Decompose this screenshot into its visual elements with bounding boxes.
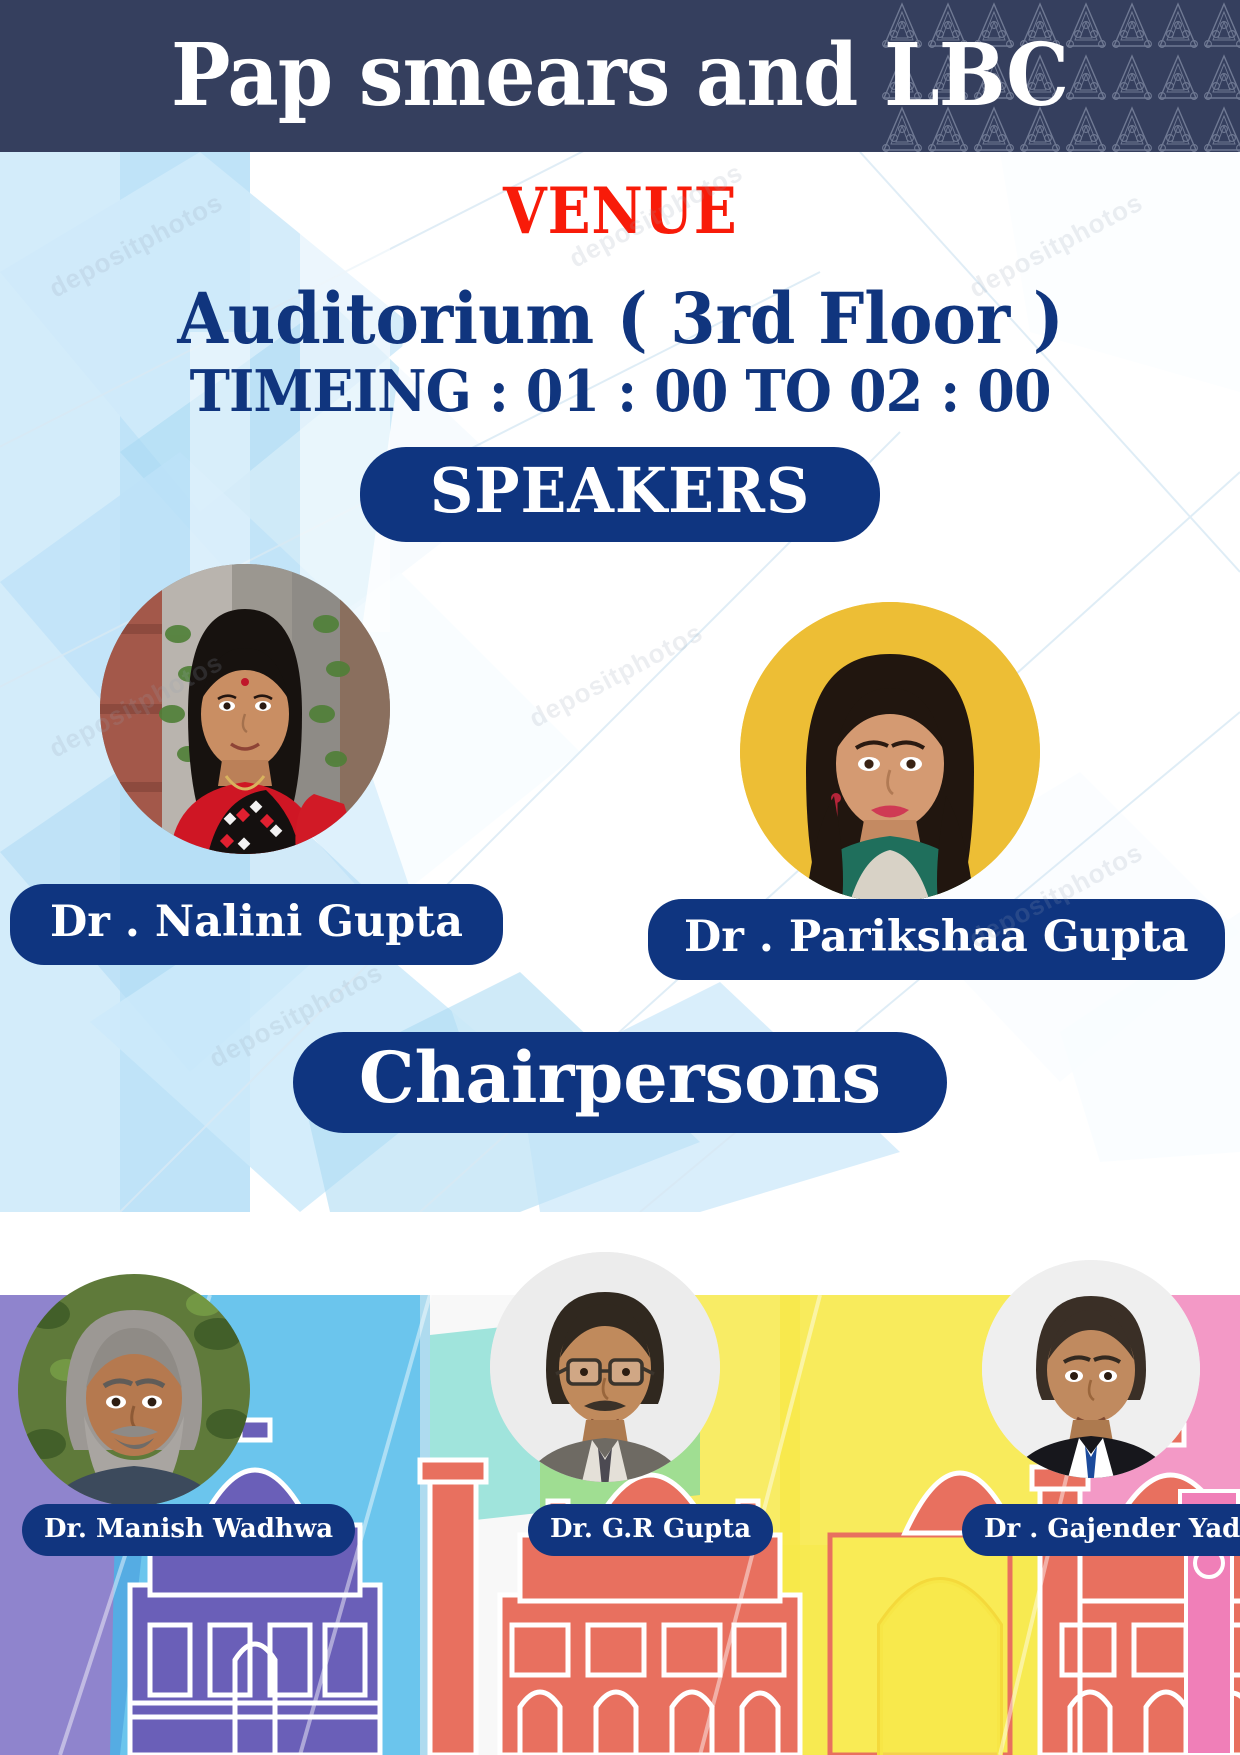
speakers-area: Dr . Nalini Gupta (0, 554, 1240, 1014)
poster-title: Pap smears and LBC (0, 33, 1240, 119)
poster-header: Pap smears and LBC (0, 0, 1240, 152)
chairpersons-section-banner: Chairpersons (293, 1032, 947, 1134)
venue-timing: TIMEING : 01 : 00 TO 02 : 00 (0, 362, 1240, 422)
speaker-name-2-text: Dr . Parikshaa Gupta (684, 912, 1189, 962)
venue-timing-text: TIMEING : 01 : 00 TO 02 : 00 (190, 362, 1051, 422)
poster-main-content: VENUE Auditorium ( 3rd Floor ) TIMEING :… (0, 152, 1240, 1133)
speakers-banner-text: SPEAKERS (430, 457, 810, 525)
chairperson-name-1: Dr. Manish Wadhwa (22, 1504, 355, 1556)
venue-location-text: Auditorium ( 3rd Floor ) (177, 282, 1063, 356)
venue-heading: VENUE (0, 180, 1240, 244)
poster-root: Pap smears and LBC VENUE Auditorium ( 3r… (0, 0, 1240, 1755)
chairperson-photo-3 (982, 1260, 1200, 1478)
speaker-1-portrait-illustration (100, 564, 390, 854)
chairperson-2-portrait-illustration (490, 1252, 720, 1482)
chairperson-name-3: Dr . Gajender Yadav (962, 1504, 1240, 1556)
chairperson-name-1-text: Dr. Manish Wadhwa (44, 1514, 333, 1544)
speaker-2-portrait-illustration (740, 602, 1040, 902)
speaker-photo-2 (740, 602, 1040, 902)
speaker-name-2: Dr . Parikshaa Gupta (648, 899, 1225, 980)
chairperson-3-portrait-illustration (982, 1260, 1200, 1478)
chairpersons-banner-row: Chairpersons (0, 1014, 1240, 1134)
chairpersons-banner-text: Chairpersons (359, 1040, 881, 1116)
chairperson-photo-2 (490, 1252, 720, 1482)
chairperson-1-portrait-illustration (18, 1274, 250, 1506)
speakers-section-banner: SPEAKERS (360, 447, 880, 541)
venue-location: Auditorium ( 3rd Floor ) (0, 282, 1240, 356)
speaker-name-1-text: Dr . Nalini Gupta (50, 897, 463, 947)
speaker-photo-1 (100, 564, 390, 854)
speakers-banner-row: SPEAKERS (0, 421, 1240, 541)
poster-title-text: Pap smears and LBC (171, 33, 1068, 119)
chairperson-name-2: Dr. G.R Gupta (528, 1504, 773, 1556)
speaker-name-1: Dr . Nalini Gupta (10, 884, 503, 965)
chairperson-name-2-text: Dr. G.R Gupta (550, 1514, 751, 1544)
chairperson-name-3-text: Dr . Gajender Yadav (984, 1514, 1240, 1544)
chairperson-photo-1 (18, 1274, 250, 1506)
poster-footer: Dr. Manish Wadhwa (0, 1212, 1240, 1755)
venue-heading-text: VENUE (503, 180, 738, 244)
